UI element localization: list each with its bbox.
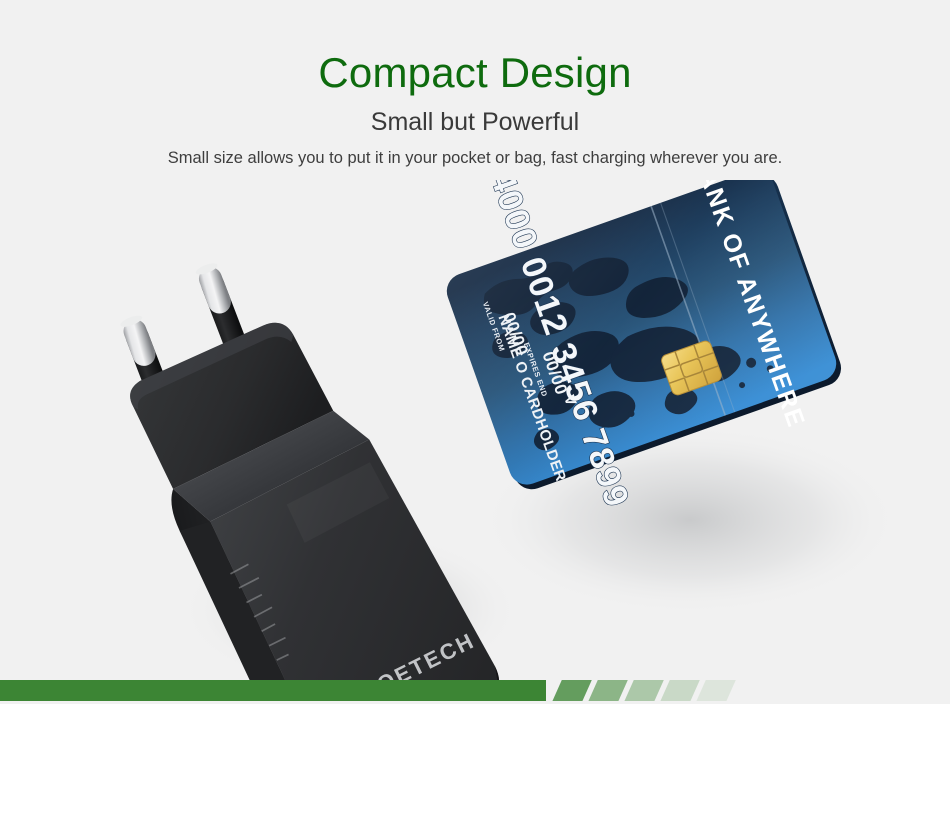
footer-stripe-2 <box>588 680 628 702</box>
footer-bar-solid <box>0 680 546 702</box>
page-description: Small size allows you to put it in your … <box>0 150 950 167</box>
footer-stripe-5 <box>696 680 736 702</box>
footer-stripe-3 <box>624 680 664 702</box>
footer-stripe-4 <box>660 680 700 702</box>
footer-accent-bar <box>0 680 950 702</box>
product-feature-banner: Compact Design Small but Powerful Small … <box>0 0 950 838</box>
product-stage: BANK OF ANYWHERE 4000 0012 3456 7899 VAL… <box>0 180 950 680</box>
footer-stripe-1 <box>552 680 592 702</box>
page-title: Compact Design <box>0 52 950 94</box>
footer-white-area <box>0 704 950 838</box>
page-subtitle: Small but Powerful <box>0 110 950 135</box>
